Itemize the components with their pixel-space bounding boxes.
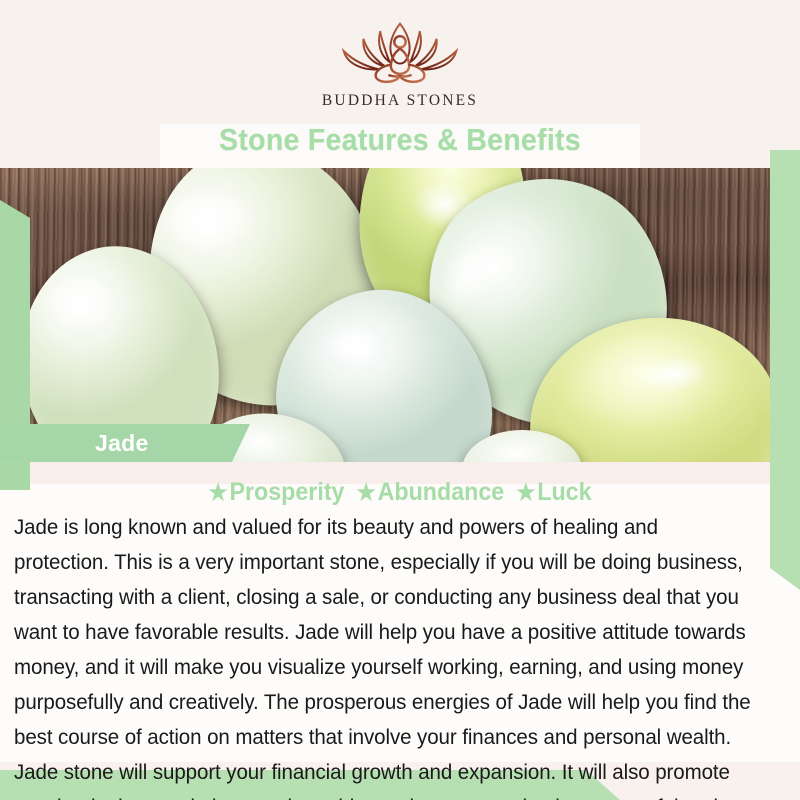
keyword-abundance: ★Abundance [357, 478, 505, 506]
star-icon: ★ [357, 479, 376, 505]
keyword-label: Luck [537, 478, 591, 506]
keyword-prosperity: ★Prosperity [208, 478, 344, 506]
keyword-label: Prosperity [229, 478, 344, 506]
gloss-highlight [426, 228, 513, 322]
stone-name-banner: Jade [0, 424, 250, 462]
gloss-highlight [155, 183, 259, 255]
stone-name-label: Jade [95, 430, 149, 457]
gloss-highlight [319, 322, 384, 366]
brand-name: BUDDHA STONES [0, 92, 800, 110]
gloss-highlight [38, 270, 126, 336]
star-icon: ★ [208, 479, 227, 505]
decor-bar-right [770, 150, 800, 590]
star-icon: ★ [516, 479, 535, 505]
keyword-label: Abundance [378, 478, 505, 506]
page-title: Stone Features & Benefits [32, 122, 768, 158]
brand-logo: BUDDHA STONES [0, 16, 800, 110]
gloss-highlight [634, 352, 712, 397]
infographic-card: BUDDHA STONES Stone Features & Benefits … [0, 0, 800, 800]
lotus-meditation-icon [320, 16, 480, 86]
keyword-luck: ★Luck [516, 478, 591, 506]
keyword-list: ★Prosperity ★Abundance ★Luck [28, 478, 772, 507]
stone-photo [0, 168, 800, 462]
description-text: Jade is long known and valued for its be… [14, 510, 757, 800]
